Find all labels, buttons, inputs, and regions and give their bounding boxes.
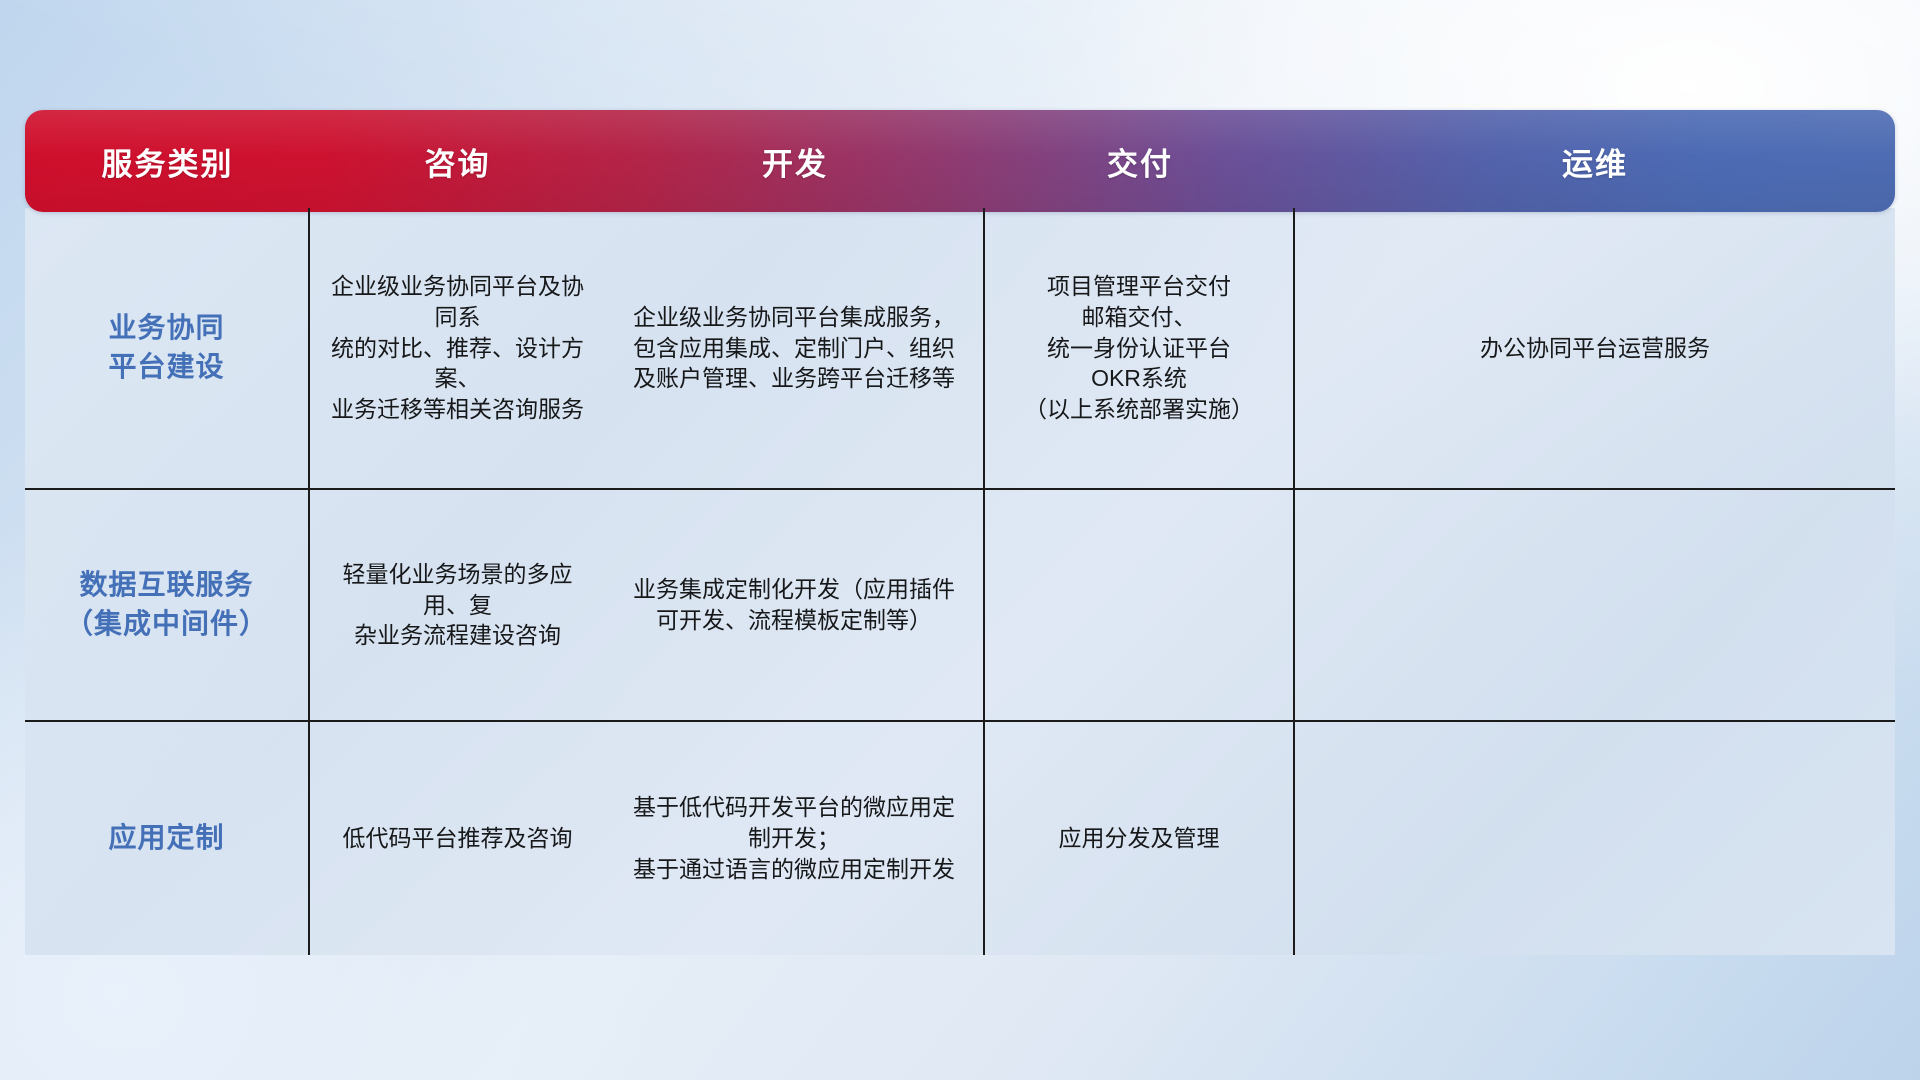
column-header-delivery: 交付 [985, 139, 1295, 184]
cell-operations [1295, 490, 1895, 720]
cell-development: 业务集成定制化开发（应用插件 可开发、流程模板定制等） [605, 490, 985, 720]
column-header-category: 服务类别 [25, 139, 310, 184]
cell-consulting: 企业级业务协同平台及协同系 统的对比、推荐、设计方案、 业务迁移等相关咨询服务 [310, 208, 605, 488]
cell-development: 基于低代码开发平台的微应用定 制开发； 基于通过语言的微应用定制开发 [605, 722, 985, 955]
table-row: 业务协同 平台建设 企业级业务协同平台及协同系 统的对比、推荐、设计方案、 业务… [25, 208, 1895, 488]
cell-development: 企业级业务协同平台集成服务， 包含应用集成、定制门户、组织 及账户管理、业务跨平… [605, 208, 985, 488]
cell-operations [1295, 722, 1895, 955]
row-category-label: 应用定制 [25, 722, 310, 955]
cell-consulting: 低代码平台推荐及咨询 [310, 722, 605, 955]
row-category-label: 业务协同 平台建设 [25, 208, 310, 488]
cell-delivery: 项目管理平台交付 邮箱交付、 统一身份认证平台 OKR系统 （以上系统部署实施） [985, 208, 1295, 488]
column-header-consulting: 咨询 [310, 139, 605, 184]
cell-consulting: 轻量化业务场景的多应用、复 杂业务流程建设咨询 [310, 490, 605, 720]
cell-delivery: 应用分发及管理 [985, 722, 1295, 955]
table-row: 数据互联服务 （集成中间件） 轻量化业务场景的多应用、复 杂业务流程建设咨询 业… [25, 488, 1895, 720]
cell-delivery [985, 490, 1295, 720]
table-row: 应用定制 低代码平台推荐及咨询 基于低代码开发平台的微应用定 制开发； 基于通过… [25, 720, 1895, 955]
row-category-label: 数据互联服务 （集成中间件） [25, 490, 310, 720]
table-body: 业务协同 平台建设 企业级业务协同平台及协同系 统的对比、推荐、设计方案、 业务… [25, 208, 1895, 955]
service-matrix-table: 服务类别 咨询 开发 交付 运维 业务协同 平台建设 企业级业务协同平台及协同系… [25, 110, 1895, 955]
table-header-row: 服务类别 咨询 开发 交付 运维 [25, 110, 1895, 212]
cell-operations: 办公协同平台运营服务 [1295, 208, 1895, 488]
column-header-operations: 运维 [1295, 139, 1895, 184]
column-header-development: 开发 [605, 139, 985, 184]
